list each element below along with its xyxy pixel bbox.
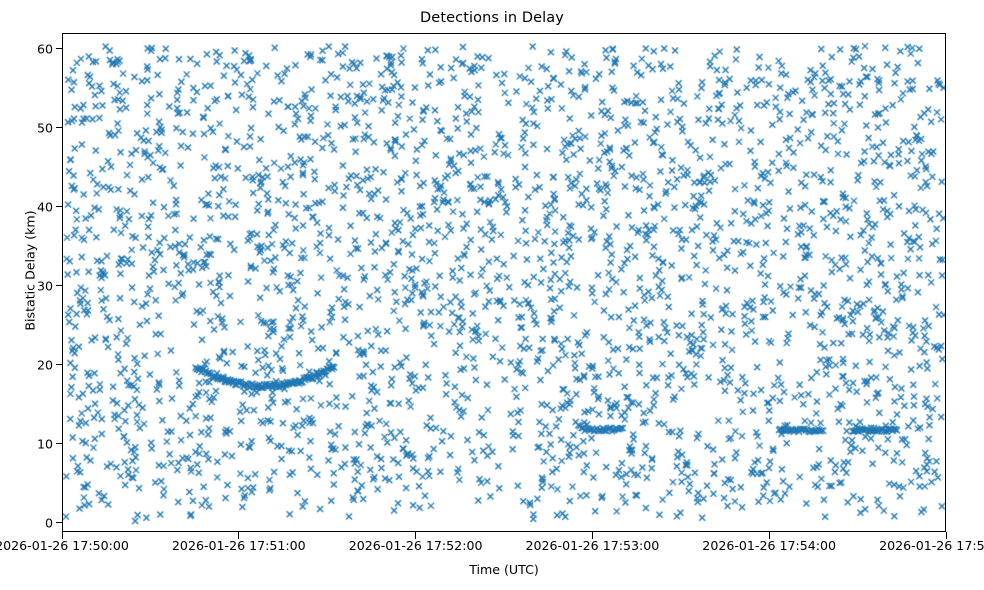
y-tick-label: 30 [9,278,53,293]
y-tick-label: 10 [9,436,53,451]
y-tick-label: 60 [9,41,53,56]
y-tick-mark [56,364,63,365]
x-tick-label: 2026-01-26 17:55:00 [879,538,984,553]
y-tick-mark [56,127,63,128]
y-tick-mark [56,206,63,207]
y-tick-mark [56,443,63,444]
x-tick-mark [415,532,416,539]
x-tick-label: 2026-01-26 17:53:00 [526,538,660,553]
x-tick-label: 2026-01-26 17:54:00 [702,538,836,553]
x-tick-mark [769,532,770,539]
y-tick-label: 20 [9,357,53,372]
y-tick-mark [56,522,63,523]
y-tick-mark [56,285,63,286]
y-tick-label: 50 [9,120,53,135]
x-axis-tick-labels: 2026-01-26 17:50:002026-01-26 17:51:0020… [0,538,984,558]
matplotlib-figure: Detections in Delay Bistatic Delay (km) … [0,0,984,590]
x-axis-label: Time (UTC) [62,562,946,577]
y-tick-label: 0 [9,515,53,530]
x-tick-label: 2026-01-26 17:50:00 [0,538,129,553]
y-tick-label: 40 [9,199,53,214]
x-tick-mark [946,532,947,539]
plot-area[interactable] [62,33,946,532]
x-tick-label: 2026-01-26 17:51:00 [172,538,306,553]
scatter-plot-canvas [63,34,946,532]
x-tick-mark [238,532,239,539]
y-tick-mark [56,48,63,49]
chart-title: Detections in Delay [0,10,984,26]
x-tick-mark [592,532,593,539]
x-tick-mark [62,532,63,539]
x-tick-label: 2026-01-26 17:52:00 [349,538,483,553]
y-axis-tick-labels: 0102030405060 [0,0,53,590]
